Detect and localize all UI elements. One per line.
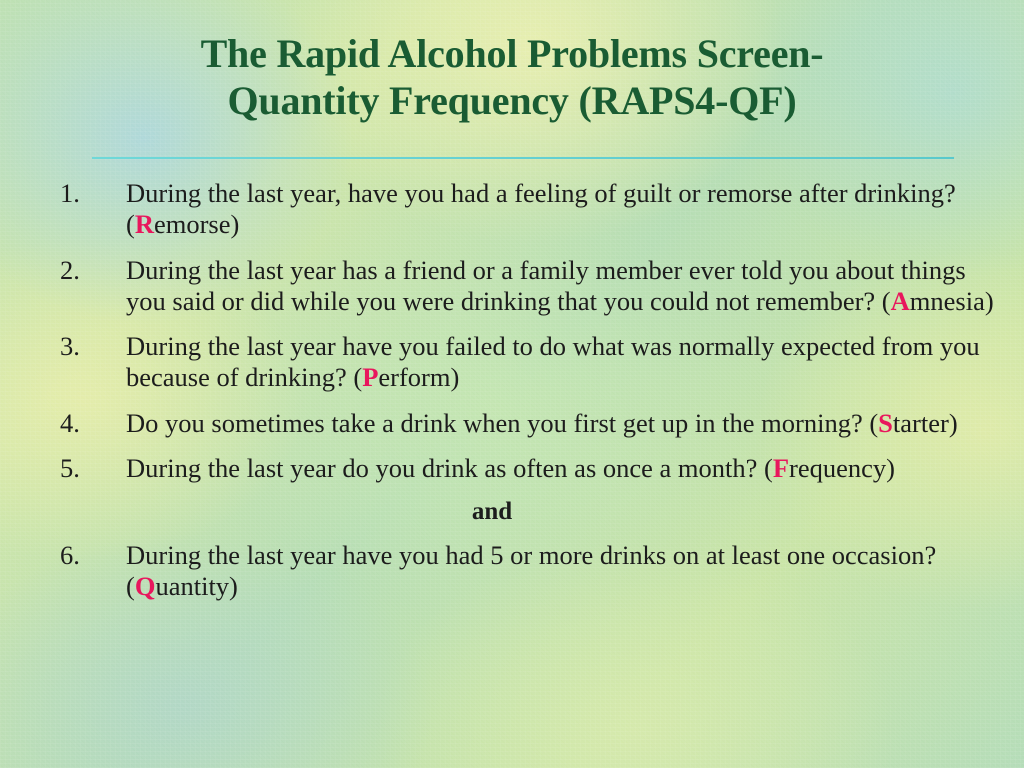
slide-title-line-2: Quantity Frequency (RAPS4-QF) bbox=[62, 77, 962, 124]
list-item-text: During the last year have you failed to … bbox=[126, 331, 1004, 394]
question-text-after: mnesia) bbox=[910, 286, 994, 316]
question-mnemonic-letter: F bbox=[773, 453, 789, 483]
list-item-number: 5. bbox=[60, 453, 126, 484]
question-text-before: During the last year have you failed to … bbox=[126, 331, 980, 392]
question-text-before: During the last year have you had 5 or m… bbox=[126, 540, 936, 601]
list-item: 2. During the last year has a friend or … bbox=[60, 255, 1004, 318]
question-list: 1. During the last year, have you had a … bbox=[60, 178, 1004, 617]
question-text-after: requency) bbox=[789, 453, 895, 483]
slide-content: The Rapid Alcohol Problems Screen- Quant… bbox=[0, 0, 1024, 768]
question-mnemonic-letter: S bbox=[878, 408, 893, 438]
question-text-after: tarter) bbox=[893, 408, 958, 438]
conjunction-label: and bbox=[60, 498, 1004, 526]
list-item-text: During the last year do you drink as oft… bbox=[126, 453, 1004, 484]
list-item-number: 2. bbox=[60, 255, 126, 286]
question-text-before: During the last year do you drink as oft… bbox=[126, 453, 773, 483]
slide-title: The Rapid Alcohol Problems Screen- Quant… bbox=[62, 30, 962, 124]
question-text-before: During the last year, have you had a fee… bbox=[126, 178, 956, 239]
question-mnemonic-letter: Q bbox=[135, 571, 156, 601]
question-text-after: erform) bbox=[378, 362, 459, 392]
list-item-text: During the last year has a friend or a f… bbox=[126, 255, 1004, 318]
list-item: 3. During the last year have you failed … bbox=[60, 331, 1004, 394]
list-item-number: 1. bbox=[60, 178, 126, 209]
question-text-after: emorse) bbox=[154, 209, 239, 239]
question-mnemonic-letter: A bbox=[891, 286, 910, 316]
list-item: 1. During the last year, have you had a … bbox=[60, 178, 1004, 241]
list-item-text: Do you sometimes take a drink when you f… bbox=[126, 408, 1004, 439]
list-item-number: 4. bbox=[60, 408, 126, 439]
list-item: 5. During the last year do you drink as … bbox=[60, 453, 1004, 484]
slide-title-line-1: The Rapid Alcohol Problems Screen- bbox=[62, 30, 962, 77]
list-item: 6. During the last year have you had 5 o… bbox=[60, 540, 1004, 603]
list-item-number: 6. bbox=[60, 540, 126, 571]
question-text-before: During the last year has a friend or a f… bbox=[126, 255, 966, 316]
list-item-number: 3. bbox=[60, 331, 126, 362]
question-text-after: uantity) bbox=[155, 571, 237, 601]
slide-canvas: The Rapid Alcohol Problems Screen- Quant… bbox=[0, 0, 1024, 768]
list-item-text: During the last year have you had 5 or m… bbox=[126, 540, 1004, 603]
list-item: 4. Do you sometimes take a drink when yo… bbox=[60, 408, 1004, 439]
question-mnemonic-letter: R bbox=[135, 209, 154, 239]
list-item-text: During the last year, have you had a fee… bbox=[126, 178, 1004, 241]
title-divider bbox=[92, 157, 954, 159]
question-text-before: Do you sometimes take a drink when you f… bbox=[126, 408, 878, 438]
question-mnemonic-letter: P bbox=[362, 362, 378, 392]
